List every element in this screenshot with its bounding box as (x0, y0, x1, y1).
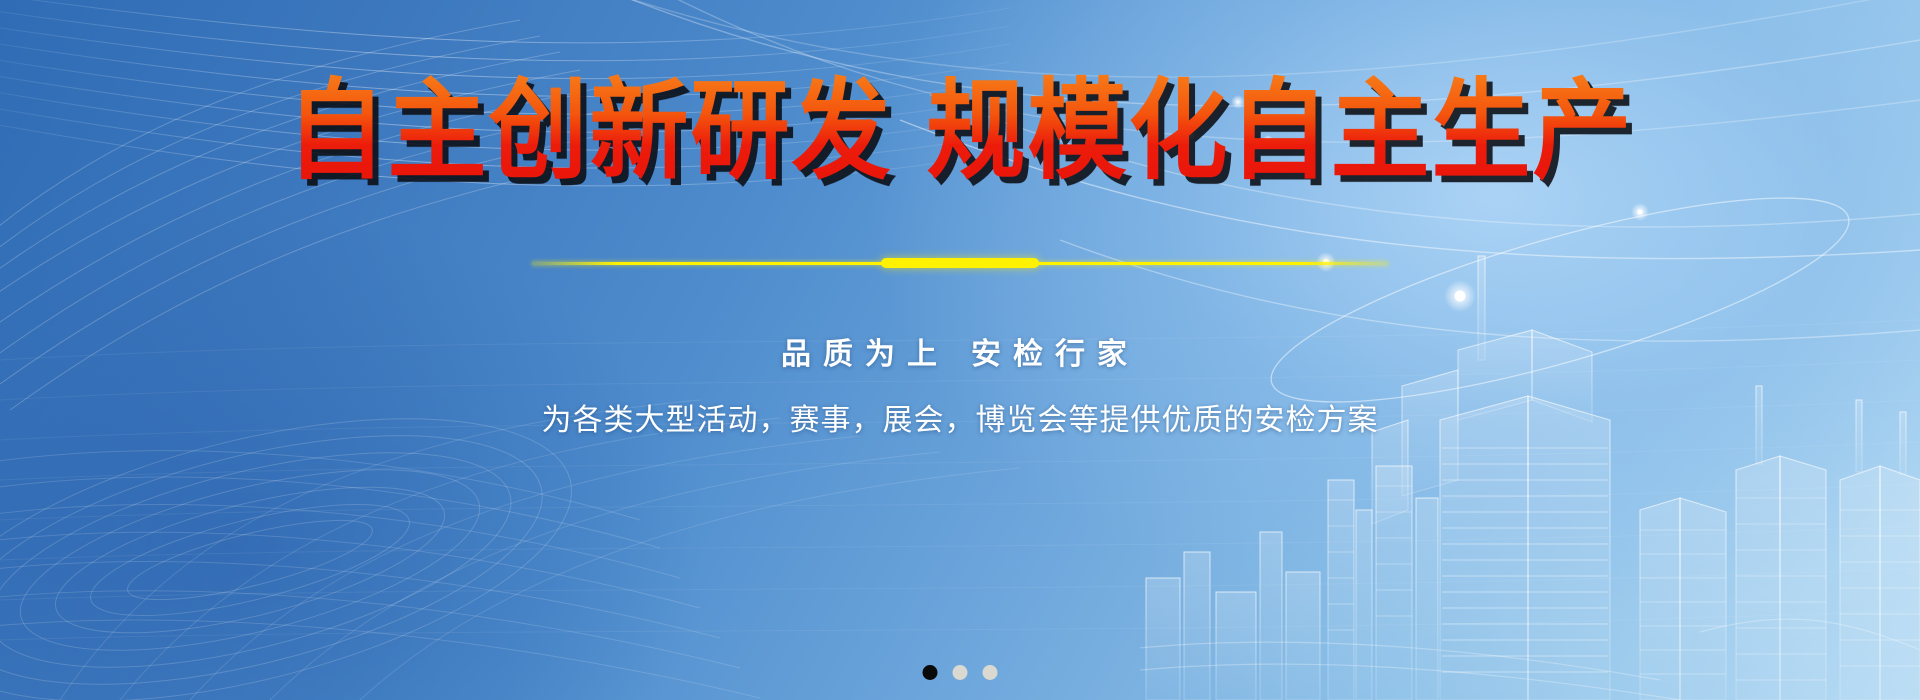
headline-part-2: 规模化自主生产 (927, 70, 1634, 192)
divider-center-bar (881, 258, 1039, 268)
banner-description: 为各类大型活动，赛事，展会，博览会等提供优质的安检方案 (542, 395, 1379, 439)
carousel-dot-3[interactable] (983, 665, 998, 680)
carousel-dot-1[interactable] (923, 665, 938, 680)
yellow-divider (532, 257, 1388, 269)
hero-banner: 自主创新研发规模化自主生产 品质为上安检行家 为各类大型活动，赛事，展会，博览会… (0, 0, 1920, 700)
banner-headline: 自主创新研发规模化自主生产 (287, 74, 1634, 189)
headline-part-1: 自主创新研发 (287, 70, 893, 192)
tagline-left: 品质为上 (781, 338, 949, 371)
carousel-dots[interactable] (923, 665, 998, 680)
banner-tagline: 品质为上安检行家 (781, 329, 1139, 373)
banner-content: 自主创新研发规模化自主生产 品质为上安检行家 为各类大型活动，赛事，展会，博览会… (0, 0, 1920, 700)
carousel-dot-2[interactable] (953, 665, 968, 680)
tagline-right: 安检行家 (971, 338, 1139, 371)
